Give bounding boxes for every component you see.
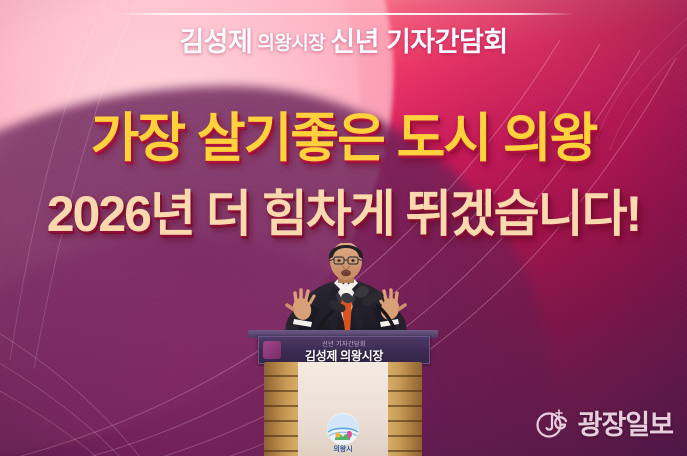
city-emblem-label: 의왕시 (333, 444, 352, 453)
backdrop-headline-line2: 2026년 더 힘차게 뛰겠습니다! (0, 174, 687, 246)
backdrop-top-title: 김성제의왕시장신년 기자간담회 (0, 20, 687, 59)
screenshot-canvas: 김성제의왕시장신년 기자간담회 가장 살기좋은 도시 의왕 2026년 더 힘차… (0, 0, 687, 456)
city-emblem-uiwang: 의왕시 (321, 410, 365, 454)
watermark: 광장일보 (535, 403, 673, 442)
publisher-logo-icon (535, 405, 571, 441)
podium-wood-panel-left (264, 362, 298, 456)
top-title-name: 김성제 (177, 27, 254, 57)
top-divider-rule (115, 13, 573, 15)
podium-wood-panel-right (388, 362, 422, 456)
podium: 신년 기자간담회 김성제 의왕시장 의왕시 (248, 330, 438, 456)
top-title-event: 신년 기자간담회 (328, 27, 509, 57)
backdrop-headline-line1: 가장 살기좋은 도시 의왕 (0, 96, 687, 172)
podium-front-panel: 의왕시 (298, 362, 388, 456)
podium-body: 의왕시 (264, 362, 422, 456)
publisher-name: 광장일보 (578, 403, 673, 442)
top-title-role: 의왕시장 (254, 33, 328, 54)
podium-name-plate: 신년 기자간담회 김성제 의왕시장 (258, 336, 430, 364)
